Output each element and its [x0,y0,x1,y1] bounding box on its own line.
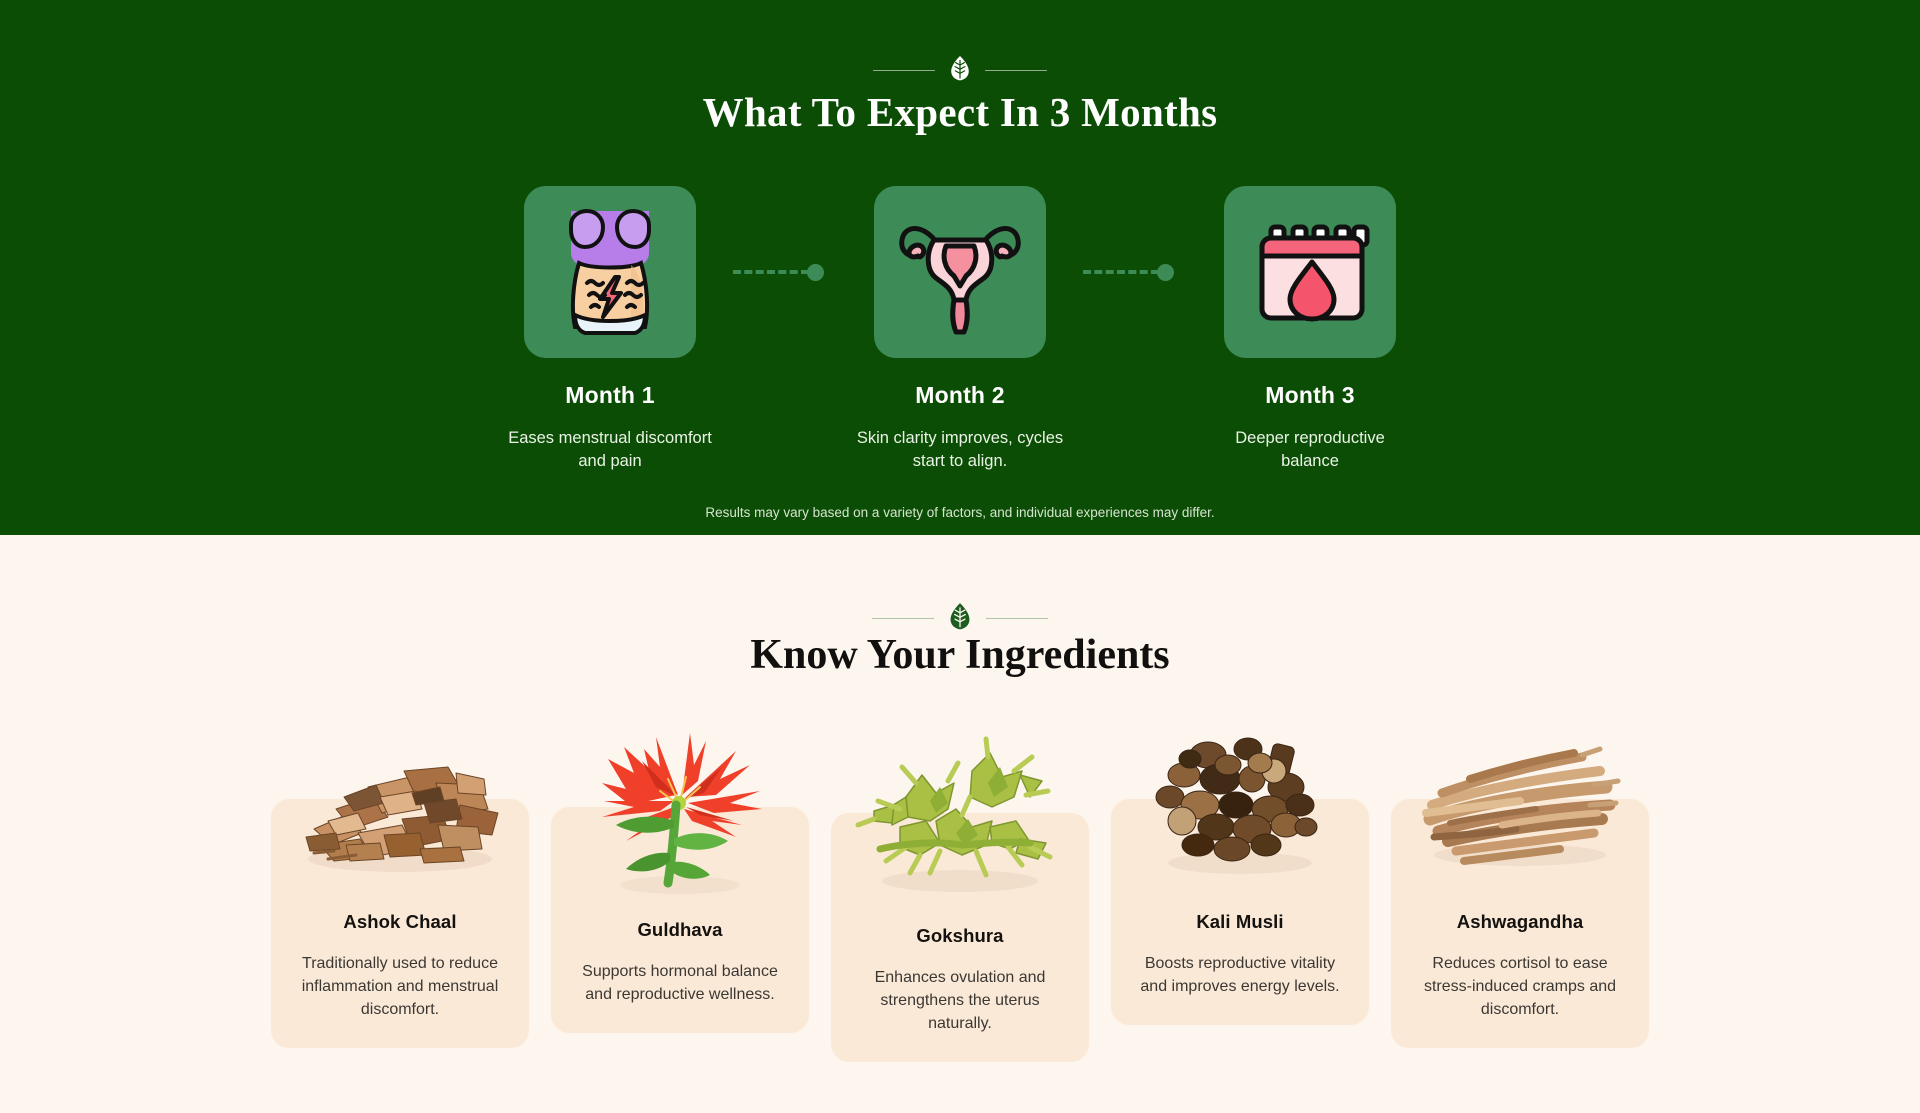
timeline-step-month-1: Month 1 Eases menstrual discomfort and p… [487,186,733,473]
ingredient-card[interactable]: Kali Musli Boosts reproductive vitality … [1111,799,1369,1025]
ingredient-name: Ashwagandha [1411,911,1629,933]
month-3-label: Month 3 [1265,382,1355,409]
connector-dot [807,264,824,281]
dark-root-pieces-image [1124,709,1356,899]
green-spiky-pods-image [844,723,1076,913]
ingredient-description: Reduces cortisol to ease stress-induced … [1411,953,1629,1022]
ingredient-description: Enhances ovulation and strengthens the u… [851,967,1069,1036]
ingredient-card[interactable]: Gokshura Enhances ovulation and strength… [831,813,1089,1062]
connector-dashes [1083,270,1159,274]
month-1-icon-tile [524,186,696,358]
month-3-icon-tile [1224,186,1396,358]
section-divider-expect [873,55,1047,86]
three-month-timeline: Month 1 Eases menstrual discomfort and p… [0,186,1920,473]
ingredient-description: Supports hormonal balance and reproducti… [571,961,789,1007]
uterus-icon [890,200,1030,345]
connector-dashes [733,270,809,274]
ingredient-card-row: Ashok Chaal Traditionally used to reduce… [0,805,1920,1062]
ingredient-description: Traditionally used to reduce inflammatio… [291,953,509,1022]
divider-rule-right [985,70,1047,71]
expect-section-title: What To Expect In 3 Months [0,88,1920,136]
ingredient-name: Gokshura [851,925,1069,947]
timeline-step-month-2: Month 2 Skin clarity improves, cycles st… [837,186,1083,473]
ingredient-card[interactable]: Guldhava Supports hormonal balance and r… [551,807,809,1033]
timeline-connector-1 [733,186,837,358]
month-2-description: Skin clarity improves, cycles start to a… [855,427,1065,473]
month-2-icon-tile [874,186,1046,358]
ingredient-description: Boosts reproductive vitality and improve… [1131,953,1349,999]
ingredients-section-title: Know Your Ingredients [0,631,1920,679]
month-1-description: Eases menstrual discomfort and pain [505,427,715,473]
calendar-blood-drop-icon [1240,200,1380,345]
ingredient-name: Guldhava [571,919,789,941]
results-disclaimer: Results may vary based on a variety of f… [0,505,1920,520]
ingredient-name: Kali Musli [1131,911,1349,933]
month-2-label: Month 2 [915,382,1005,409]
timeline-step-month-3: Month 3 Deeper reproductive balance [1187,186,1433,473]
divider-rule-left [873,70,935,71]
month-3-description: Deeper reproductive balance [1205,427,1415,473]
month-1-label: Month 1 [565,382,655,409]
divider-rule-left [872,618,934,619]
ingredient-card[interactable]: Ashwagandha Reduces cortisol to ease str… [1391,799,1649,1048]
timeline-connector-2 [1083,186,1187,358]
abdominal-cramps-icon [535,195,685,350]
divider-rule-right [986,618,1048,619]
ingredient-name: Ashok Chaal [291,911,509,933]
tan-roots-image [1404,709,1636,899]
ingredient-card[interactable]: Ashok Chaal Traditionally used to reduce… [271,799,529,1048]
red-flower-image [564,717,796,907]
leaf-icon [949,55,971,86]
what-to-expect-section: What To Expect In 3 Months [0,0,1920,535]
know-your-ingredients-section: Know Your Ingredients [0,535,1920,1113]
connector-dot [1157,264,1174,281]
bark-chips-image [284,709,516,899]
landing-page: What To Expect In 3 Months [0,0,1920,1113]
